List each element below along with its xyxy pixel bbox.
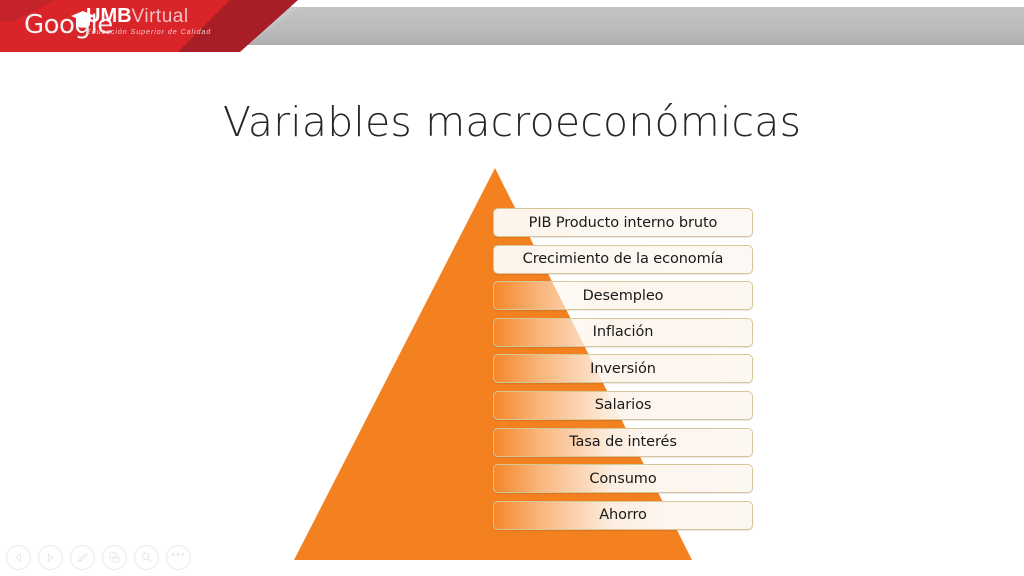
pyramid-band-label: Consumo: [589, 471, 656, 487]
graduation-cap-icon: [70, 10, 96, 30]
ellipsis-icon: •••: [171, 550, 186, 561]
pyramid-band[interactable]: PIB Producto interno bruto: [493, 208, 753, 237]
umb-virtual-name: UMBVirtual: [86, 6, 189, 26]
pyramid-band[interactable]: Tasa de interés: [493, 428, 753, 457]
triangle-right-icon: [45, 552, 56, 563]
pyramid-band[interactable]: Salarios: [493, 391, 753, 420]
slide-grid-button[interactable]: [102, 545, 127, 570]
more-options-button[interactable]: •••: [166, 545, 191, 570]
slide-player-toolbar: •••: [6, 545, 191, 570]
previous-slide-button[interactable]: [6, 545, 31, 570]
grid-icon: [108, 551, 121, 564]
pyramid-band-label: Tasa de interés: [569, 434, 677, 450]
next-slide-button[interactable]: [38, 545, 63, 570]
pyramid-band[interactable]: Inversión: [493, 354, 753, 383]
pyramid-band[interactable]: Inflación: [493, 318, 753, 347]
pyramid-band[interactable]: Ahorro: [493, 501, 753, 530]
pyramid-band[interactable]: Crecimiento de la economía: [493, 245, 753, 274]
pyramid-band-label: Ahorro: [599, 507, 647, 523]
presentation-slide: Google UMBVirtual Educación Superior de …: [0, 0, 1024, 576]
umb-tagline: Educación Superior de Calidad: [86, 28, 211, 35]
pyramid-band[interactable]: Desempleo: [493, 281, 753, 310]
slide-title: Variables macroeconómicas: [0, 98, 1024, 146]
pyramid-band-label: Desempleo: [583, 288, 664, 304]
magnifier-icon: [140, 551, 153, 564]
slide-header-banner: Google UMBVirtual Educación Superior de …: [0, 0, 1024, 52]
pyramid-band[interactable]: Consumo: [493, 464, 753, 493]
pyramid-band-label: Salarios: [595, 397, 652, 413]
pyramid-band-label: Crecimiento de la economía: [523, 251, 724, 267]
pyramid-band-label: Inversión: [590, 361, 656, 377]
pyramid-band-list: PIB Producto interno bruto Crecimiento d…: [493, 208, 753, 537]
annotate-pen-button[interactable]: [70, 545, 95, 570]
virtual-light-text: Virtual: [132, 6, 189, 27]
pen-icon: [76, 551, 89, 564]
umb-virtual-logo: UMBVirtual Educación Superior de Calidad: [86, 6, 211, 35]
pyramid-band-label: PIB Producto interno bruto: [529, 215, 718, 231]
zoom-button[interactable]: [134, 545, 159, 570]
pyramid-band-label: Inflación: [593, 324, 654, 340]
pyramid-diagram: PIB Producto interno bruto Crecimiento d…: [270, 160, 770, 570]
triangle-left-icon: [13, 552, 24, 563]
